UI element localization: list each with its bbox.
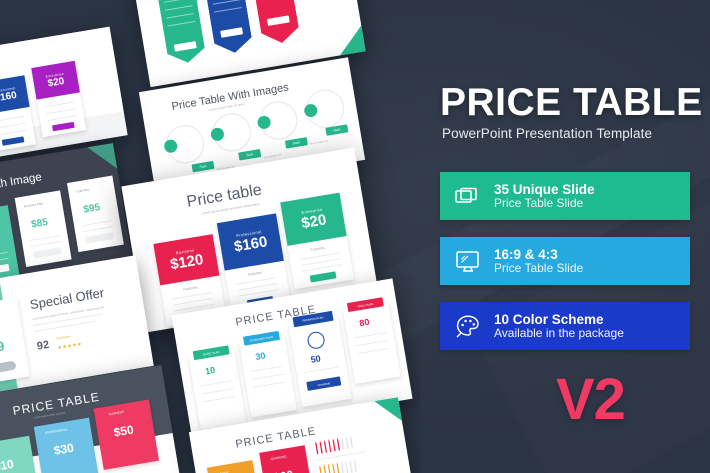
plan-name: Gold Plan xyxy=(76,188,90,194)
card-button[interactable] xyxy=(85,232,114,244)
plan-card[interactable]: BASIC $10 xyxy=(0,436,39,473)
plan-header: Professional $160 xyxy=(217,213,284,270)
plan-badge: GOLD PLAN xyxy=(347,297,384,312)
card-button[interactable] xyxy=(0,264,10,276)
plan-price: $30 xyxy=(53,441,75,458)
plan-card[interactable]: ADVANCED $60 xyxy=(259,445,315,473)
ribbon-card xyxy=(155,0,207,66)
plan-price: $95 xyxy=(83,202,101,216)
version-badge: V2 xyxy=(556,371,625,429)
features-label: Features xyxy=(247,271,262,277)
hero-panel: PRICE TABLE PowerPoint Presentation Temp… xyxy=(408,0,710,473)
download-button[interactable]: Download xyxy=(306,376,341,390)
features-label: Features xyxy=(310,246,325,252)
feature-sub: Available in the package xyxy=(494,327,624,340)
page-title: PRICE TABLE xyxy=(440,83,703,122)
plan-card[interactable]: PROFESSIONAL $30 xyxy=(34,418,99,473)
palette-icon xyxy=(453,312,483,340)
plan-price: $60 xyxy=(272,468,294,473)
plan-price: $50 xyxy=(113,422,135,439)
card-button[interactable] xyxy=(2,136,25,146)
score-label: Total Review xyxy=(56,335,71,340)
card-button[interactable] xyxy=(52,122,75,132)
start-button[interactable]: Start xyxy=(238,149,261,161)
score-value: 92 xyxy=(36,339,50,353)
plan-price: $85 xyxy=(30,217,48,231)
corner-accent-triangle xyxy=(374,397,402,425)
plan-card[interactable]: Business Plan $85 xyxy=(15,190,72,267)
plan-card[interactable]: PREMIUM PLAN 50 Download xyxy=(289,316,352,407)
offer-price: $89 xyxy=(0,338,5,356)
plan-card[interactable]: STANDARD PLAN 30 xyxy=(239,335,297,418)
item-label: Text Number 04 xyxy=(310,140,329,146)
feature-color-scheme[interactable]: 10 Color Scheme Available in the package xyxy=(440,302,690,350)
plan-header: Business $120 xyxy=(153,234,219,285)
plan-card[interactable]: Gold Plan $95 xyxy=(67,176,124,253)
plan-name: ADVANCED xyxy=(270,454,287,461)
poster-canvas: $50 $70 $90 Price Table With Images Lore… xyxy=(0,0,710,473)
page-subtitle: PowerPoint Presentation Template xyxy=(442,126,652,141)
purchase-button[interactable] xyxy=(310,271,337,282)
plan-badge: BASIC PLAN xyxy=(193,345,230,360)
plan-name: PROFESSIONAL xyxy=(45,427,69,435)
feature-headline: 35 Unique Slide xyxy=(494,182,595,197)
item-label: Text Number 03 xyxy=(263,154,282,160)
feature-headline: 16:9 & 4:3 xyxy=(494,247,583,262)
plan-price: 10 xyxy=(204,365,216,377)
offer-card[interactable]: Enterprise $89 xyxy=(0,297,30,385)
star-rating: ★★★★★ xyxy=(57,341,83,351)
corner-accent-triangle xyxy=(87,143,117,173)
plan-card[interactable]: BUSINESS $50 xyxy=(94,399,159,469)
monitor-icon xyxy=(453,247,483,275)
plan-card[interactable]: Standard Plan $70 xyxy=(0,205,20,284)
corner-accent-triangle xyxy=(336,26,366,56)
people-infographic xyxy=(314,435,354,454)
start-button[interactable]: Start xyxy=(285,137,308,149)
plan-header: Professional $160 xyxy=(0,75,30,114)
slides-stack-icon xyxy=(453,182,483,210)
plan-icon-circle xyxy=(306,331,326,351)
plan-badge: STANDARD PLAN xyxy=(243,331,280,346)
purchase-button[interactable] xyxy=(0,361,17,375)
plan-name: BUSINESS xyxy=(108,410,124,416)
plan-header: Enterprise $20 xyxy=(280,193,346,246)
plan-card[interactable]: BASIC $30 xyxy=(207,460,263,473)
plan-header: Enterprise $20 xyxy=(31,61,80,100)
card-button[interactable] xyxy=(33,247,62,259)
feature-aspect-ratio[interactable]: 16:9 & 4:3 Price Table Slide xyxy=(440,237,690,285)
feature-headline: 10 Color Scheme xyxy=(494,312,624,327)
slide-previews-collage: $50 $70 $90 Price Table With Images Lore… xyxy=(0,0,420,473)
feature-unique-slides[interactable]: 35 Unique Slide Price Table Slide xyxy=(440,172,690,220)
plan-price: 30 xyxy=(255,350,267,362)
plan-name: Business Plan xyxy=(24,201,43,208)
plan-price: 80 xyxy=(359,317,371,329)
plan-price: 50 xyxy=(310,353,322,365)
plan-card[interactable]: Enterprise $20 Features xyxy=(280,193,354,290)
feature-sub: Price Table Slide xyxy=(494,262,583,275)
plan-price: $120 xyxy=(169,251,205,273)
plan-price: $10 xyxy=(0,457,15,473)
feature-sub: Price Table Slide xyxy=(494,197,595,210)
people-infographic xyxy=(318,459,358,473)
plan-card[interactable]: GOLD PLAN 80 xyxy=(343,301,401,384)
plan-card[interactable]: BASIC PLAN 10 xyxy=(189,349,247,430)
features-label: Features xyxy=(183,285,198,291)
